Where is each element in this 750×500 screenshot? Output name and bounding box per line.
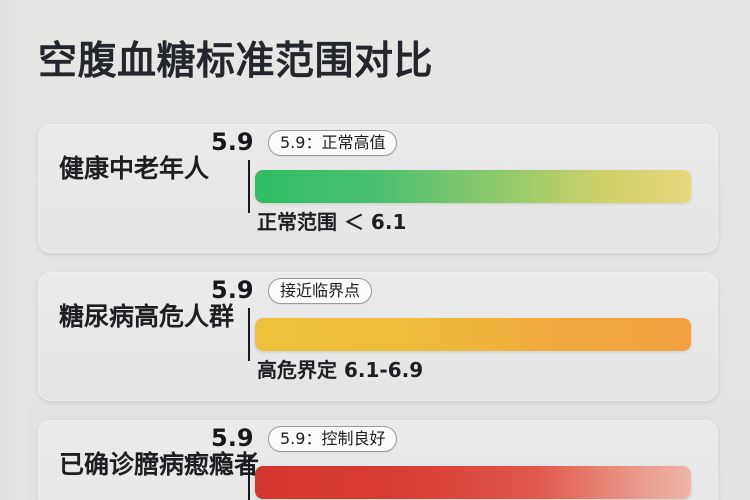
range-caption: 高危界定 6.1-6.9 — [257, 356, 423, 384]
infographic-page: 空腹血糖标准范围对比 健康中老年人 5.9 5.9：正常高值 正常范围 ＜ 6.… — [0, 0, 750, 500]
card-label: 健康中老年人 — [59, 152, 209, 186]
glucose-range-bar — [255, 318, 691, 351]
glucose-range-bar — [255, 170, 691, 203]
marker-value: 5.9 — [211, 128, 254, 156]
glucose-range-card-healthy: 健康中老年人 5.9 5.9：正常高值 正常范围 ＜ 6.1 — [38, 124, 718, 253]
status-badge: 5.9：控制良好 — [268, 426, 397, 452]
marker-line — [248, 308, 250, 361]
marker-line — [248, 160, 250, 213]
marker-value: 5.9 — [211, 424, 254, 452]
glucose-range-card-highrisk: 糖尿病高危人群 5.9 接近临界点 高危界定 6.1-6.9 — [38, 272, 718, 401]
marker-line — [248, 456, 250, 500]
card-label: 糖尿病高危人群 — [59, 300, 234, 334]
glucose-range-card-diagnosed: 已确诊膪病瘛瘾者 5.9 5.9：控制良好 — [38, 420, 718, 500]
card-label: 已确诊膪病瘛瘾者 — [59, 448, 259, 482]
status-badge: 接近临界点 — [268, 278, 372, 304]
page-title: 空腹血糖标准范围对比 — [38, 38, 433, 86]
glucose-range-bar — [255, 466, 691, 499]
range-caption: 正常范围 ＜ 6.1 — [257, 208, 406, 236]
status-badge: 5.9：正常高值 — [268, 130, 397, 156]
marker-value: 5.9 — [211, 276, 254, 304]
